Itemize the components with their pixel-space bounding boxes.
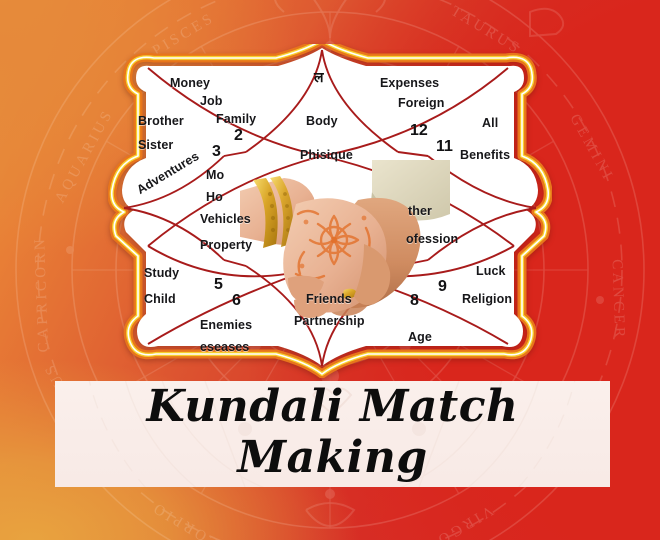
poster-root: ARIES TAURUS GEMINI CANCER LEO VIRGO LIB… xyxy=(0,0,660,540)
page-title: Kundali Match Making xyxy=(55,381,610,483)
kundali-chart xyxy=(108,44,552,378)
title-banner: Kundali Match Making xyxy=(55,381,610,487)
